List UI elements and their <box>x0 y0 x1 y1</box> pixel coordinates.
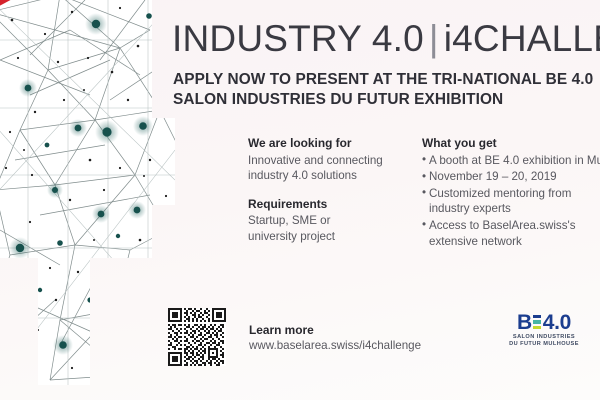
list-item-continuation: November 19 – 20, 2019 <box>422 169 600 185</box>
right-content-column: What you get A booth at BE 4.0 exhibitio… <box>422 136 600 250</box>
what-you-get-block: What you get A booth at BE 4.0 exhibitio… <box>422 136 600 249</box>
requirements-body: Startup, SME or university project <box>248 213 416 244</box>
logo-tagline-line-1: SALON INDUSTRIES <box>508 334 580 341</box>
title-part-1: INDUSTRY 4.0 <box>172 18 424 59</box>
poster-canvas: s now open INDUSTRY 4.0|i4CHALLE APPLY N… <box>0 0 600 400</box>
learn-more-block: Learn more www.baselarea.swiss/i4challen… <box>249 323 421 354</box>
qr-code[interactable] <box>168 308 226 366</box>
subtitle: APPLY NOW TO PRESENT AT THE TRI-NATIONAL… <box>173 70 600 110</box>
network-mesh-illustration <box>0 0 175 400</box>
logo-number: 4.0 <box>543 312 571 333</box>
logo-letter-b: B <box>517 312 532 333</box>
logo-letter-e-bars <box>533 315 541 330</box>
learn-more-heading: Learn more <box>249 323 421 338</box>
list-item: A booth at BE 4.0 exhibition in Mu <box>422 153 600 169</box>
looking-for-heading: We are looking for <box>248 136 416 152</box>
what-you-get-heading: What you get <box>422 136 600 152</box>
benefits-list: A booth at BE 4.0 exhibition in Mu Novem… <box>422 153 600 250</box>
title-separator: | <box>424 18 444 59</box>
list-item: Customized mentoring from industry exper… <box>422 186 600 217</box>
logo-mark: B 4.0 <box>508 312 580 332</box>
left-content-column: We are looking for Innovative and connec… <box>248 136 416 245</box>
requirements-block: Requirements Startup, SME or university … <box>248 197 416 245</box>
logo-tagline: SALON INDUSTRIES DU FUTUR MULHOUSE <box>508 334 580 349</box>
looking-for-body: Innovative and connecting industry 4.0 s… <box>248 153 416 184</box>
learn-more-url[interactable]: www.baselarea.swiss/i4challenge <box>249 338 421 353</box>
title-part-2: i4CHALLE <box>444 18 600 59</box>
be40-logo: B 4.0 SALON INDUSTRIES DU FUTUR MULHOUSE <box>508 312 580 349</box>
subtitle-line-1: APPLY NOW TO PRESENT AT THE TRI-NATIONAL… <box>173 71 593 88</box>
subtitle-line-2: SALON INDUSTRIES DU FUTUR EXHIBITION <box>173 90 600 110</box>
page-title: INDUSTRY 4.0|i4CHALLE <box>172 18 600 60</box>
list-item: Access to BaselArea.swiss's extensive ne… <box>422 218 600 249</box>
looking-for-block: We are looking for Innovative and connec… <box>248 136 416 184</box>
logo-tagline-line-2: DU FUTUR MULHOUSE <box>508 341 580 348</box>
requirements-heading: Requirements <box>248 197 416 213</box>
